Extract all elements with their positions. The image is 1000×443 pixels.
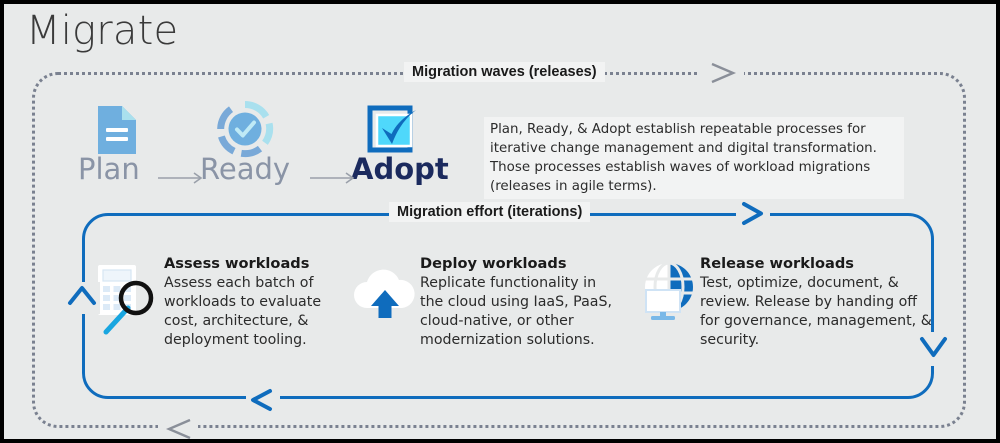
migration-effort-label: Migration effort (iterations) bbox=[389, 202, 590, 222]
card-title: Release workloads bbox=[700, 255, 940, 272]
bottom-border-band bbox=[0, 439, 1000, 443]
right-border-band bbox=[996, 0, 1000, 443]
migrate-diagram: Migrate Migration waves (releases) Migra… bbox=[0, 0, 1000, 443]
migration-waves-description: Plan, Ready, & Adopt establish repeatabl… bbox=[484, 117, 904, 199]
stage-label-plan: Plan bbox=[78, 152, 140, 186]
migration-waves-label: Migration waves (releases) bbox=[404, 62, 605, 82]
document-icon bbox=[94, 104, 140, 156]
globe-monitor-icon bbox=[638, 260, 700, 322]
top-border-band bbox=[0, 0, 1000, 4]
cloud-upload-icon bbox=[350, 264, 420, 320]
page-title: Migrate bbox=[26, 8, 178, 54]
long-arrow-right-icon bbox=[158, 170, 206, 186]
left-border-band bbox=[0, 0, 4, 443]
stage-label-adopt: Adopt bbox=[351, 152, 449, 186]
card-title: Deploy workloads bbox=[420, 255, 620, 272]
card-body: Replicate functionality in the cloud usi… bbox=[420, 274, 620, 350]
card-deploy-workloads: Deploy workloads Replicate functionality… bbox=[420, 255, 620, 350]
stage-label-ready: Ready bbox=[200, 152, 290, 186]
calculator-magnifier-icon bbox=[92, 262, 156, 336]
card-assess-workloads: Assess workloads Assess each batch of wo… bbox=[164, 255, 342, 350]
card-body: Test, optimize, document, & review. Rele… bbox=[700, 274, 940, 350]
card-title: Assess workloads bbox=[164, 255, 342, 272]
long-arrow-right-icon bbox=[310, 170, 358, 186]
card-body: Assess each batch of workloads to evalua… bbox=[164, 274, 342, 350]
card-release-workloads: Release workloads Test, optimize, docume… bbox=[700, 255, 940, 350]
check-circle-icon bbox=[216, 100, 274, 158]
checkbox-check-icon bbox=[364, 100, 422, 158]
